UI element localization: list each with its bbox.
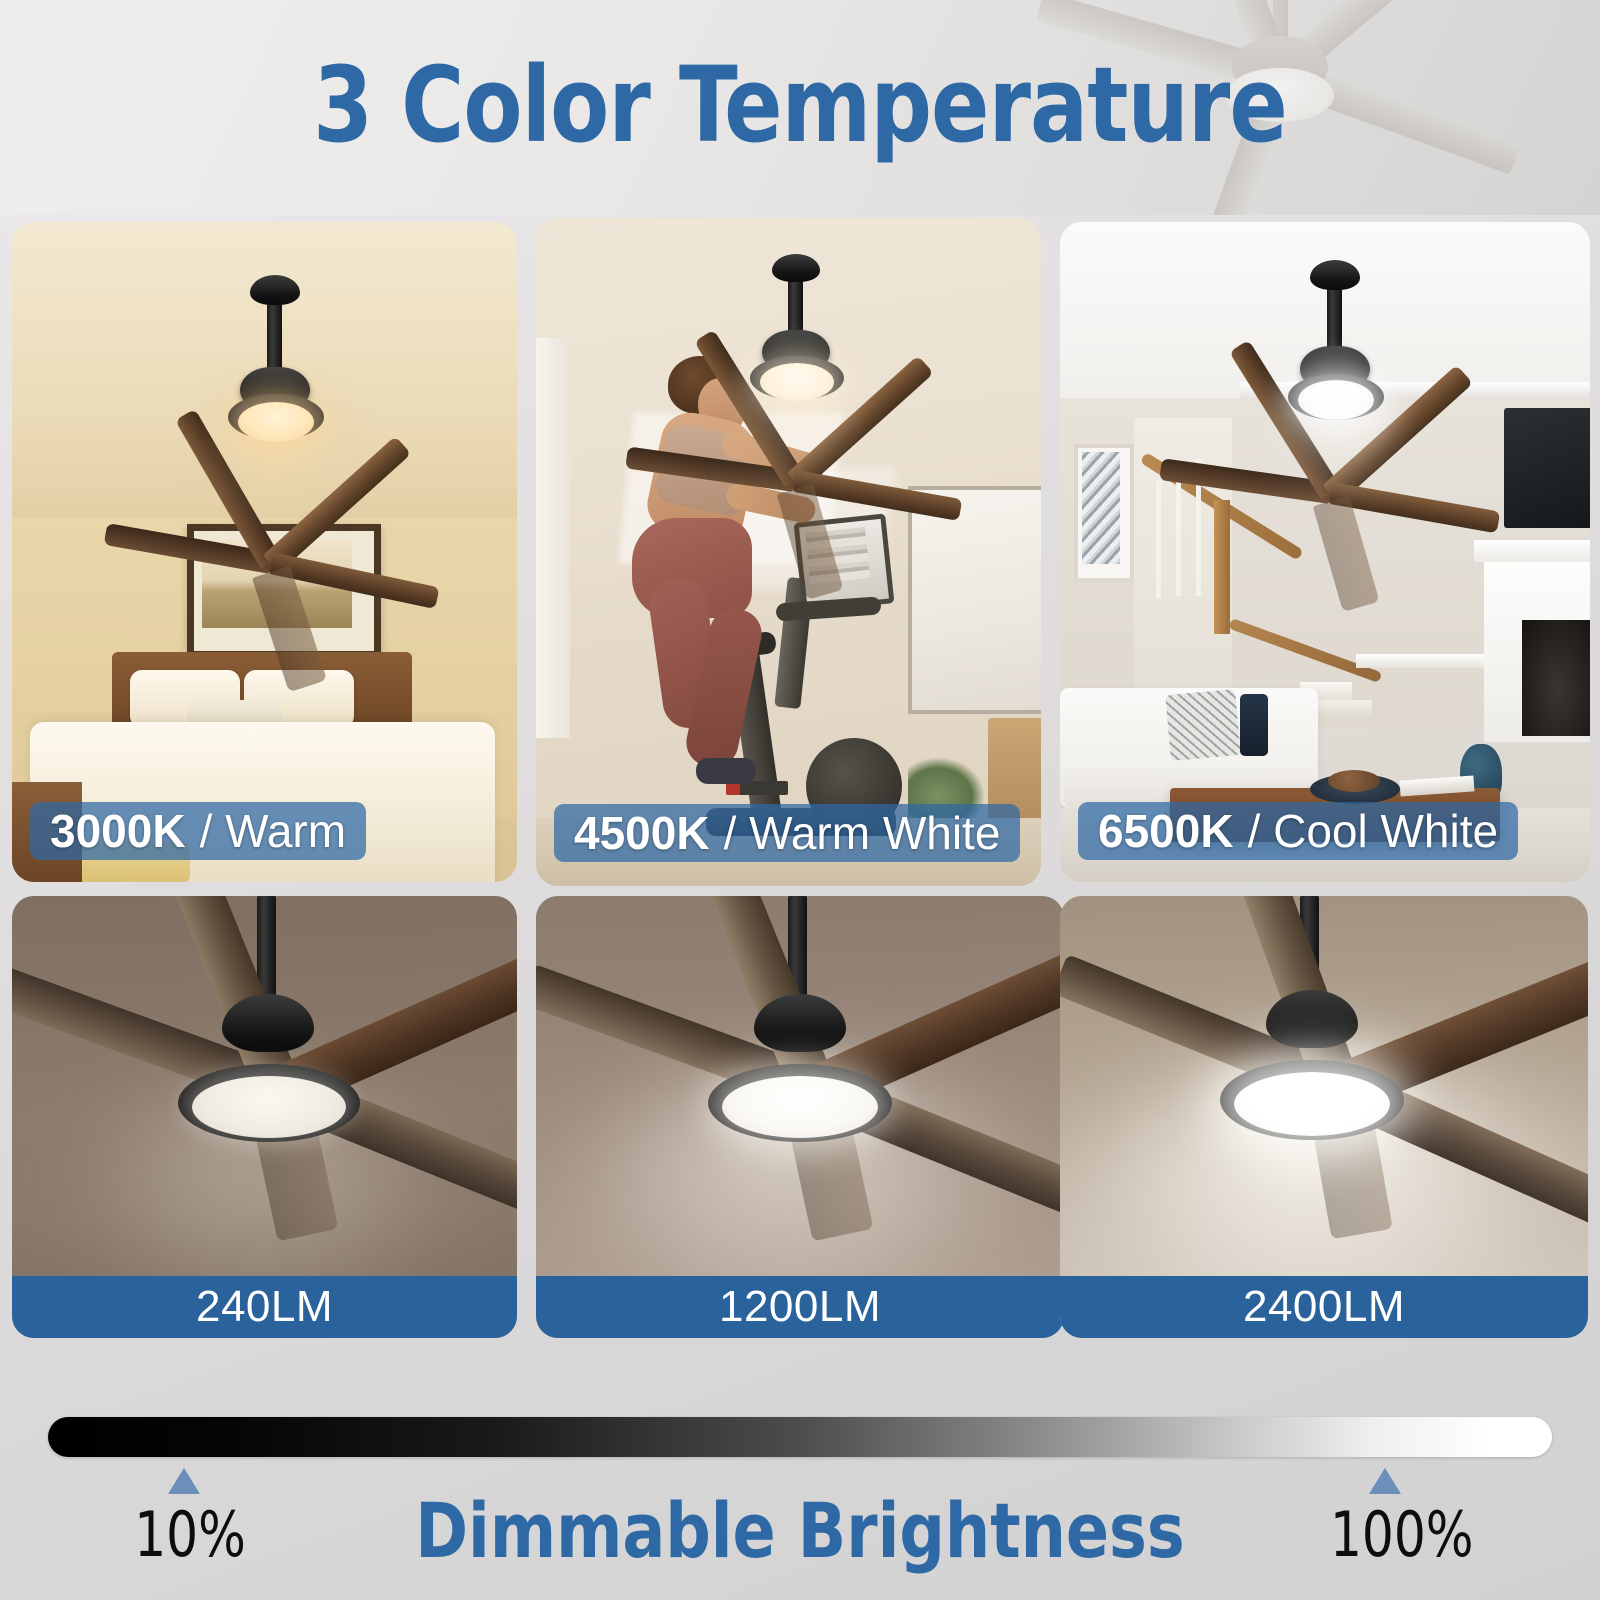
curtain [536,338,570,738]
kelvin-value: 6500K [1098,804,1234,858]
throw-pillow [1165,689,1240,761]
dimmable-brightness-title: Dimmable Brightness [56,1486,1544,1575]
kelvin-value: 4500K [574,806,710,860]
wall-art-image [202,540,352,628]
header-banner: 3 Color Temperature [0,0,1600,215]
crown-molding [1240,382,1590,398]
stair-step [1310,700,1372,720]
color-temperature-panel[interactable]: 3000K / Warm [12,222,517,882]
wall-mirror [908,486,1041,714]
stair-newel-post [1214,500,1230,634]
kelvin-name: / Warm [200,804,347,858]
lumen-label-bar: 1200LM [536,1276,1064,1338]
brightness-gradient-track[interactable] [48,1417,1552,1457]
kelvin-name: / Cool White [1248,804,1499,858]
color-temperature-panel[interactable]: 6500K / Cool White [1060,222,1590,882]
bike-screen-content [805,527,871,589]
lumen-label-bar: 240LM [12,1276,517,1338]
color-temperature-label: 4500K / Warm White [554,804,1020,862]
wall-art-image [1082,452,1120,564]
color-temperature-panel[interactable]: 4500K / Warm White [536,218,1041,886]
throw-pillow [1240,694,1268,756]
fireplace-opening [1522,620,1590,736]
stair-baluster [1176,468,1181,596]
television [1504,408,1590,528]
brightness-panel[interactable]: 2400LM [1060,896,1588,1338]
kelvin-value: 3000K [50,804,186,858]
color-temperature-label: 6500K / Cool White [1078,802,1518,860]
ceiling-surface [1060,222,1590,400]
kelvin-name: / Warm White [724,806,1001,860]
lumen-value: 1200LM [719,1282,881,1332]
color-temperature-label: 3000K / Warm [30,802,366,860]
brightness-panel[interactable]: 240LM [12,896,517,1338]
bowl-contents [1328,770,1380,792]
stair-baluster [1196,458,1201,596]
brightness-panel[interactable]: 1200LM [536,896,1064,1338]
lumen-value: 2400LM [1243,1282,1405,1332]
fireplace-mantel [1474,540,1590,562]
dimmable-brightness-section: 10% 100% Dimmable Brightness [0,1390,1600,1600]
lumen-label-bar: 2400LM [1060,1276,1588,1338]
ceiling-surface [12,222,517,522]
page-title: 3 Color Temperature [64,44,1536,166]
stair-baluster [1156,480,1161,598]
lumen-value: 240LM [196,1282,333,1332]
person-shoe [696,758,756,784]
